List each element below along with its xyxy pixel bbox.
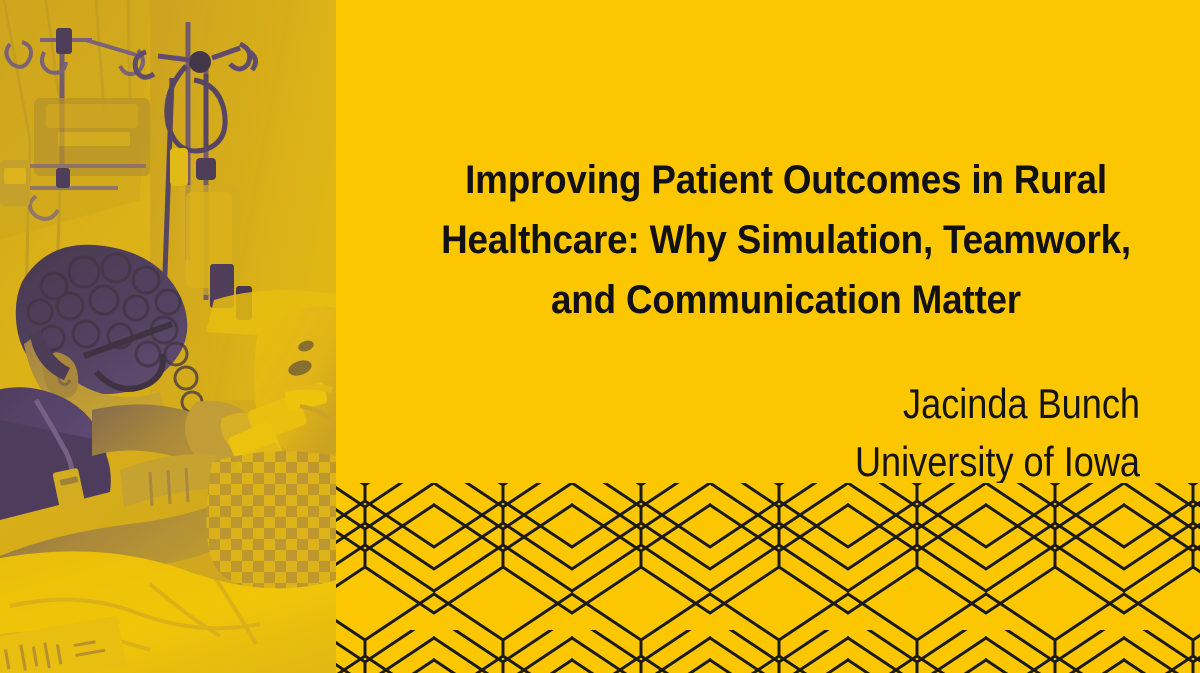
title-slide-photo [0,0,336,673]
author-block: Jacinda Bunch University of Iowa [540,375,1140,491]
page-title: Improving Patient Outcomes in Rural Heal… [336,150,1200,330]
author-name: Jacinda Bunch [624,375,1140,433]
title-line-1: Improving Patient Outcomes in Rural [418,150,1154,210]
title-line-3: and Communication Matter [418,270,1154,330]
content-panel: Improving Patient Outcomes in Rural Heal… [336,0,1200,673]
title-line-2: Healthcare: Why Simulation, Teamwork, [418,210,1154,270]
duotone-hospital-simulation-image [0,0,336,673]
nested-chevron-labyrinth-icon [336,483,1200,673]
chevron-pattern-decoration [336,483,1200,673]
presentation-slide: Improving Patient Outcomes in Rural Heal… [0,0,1200,673]
